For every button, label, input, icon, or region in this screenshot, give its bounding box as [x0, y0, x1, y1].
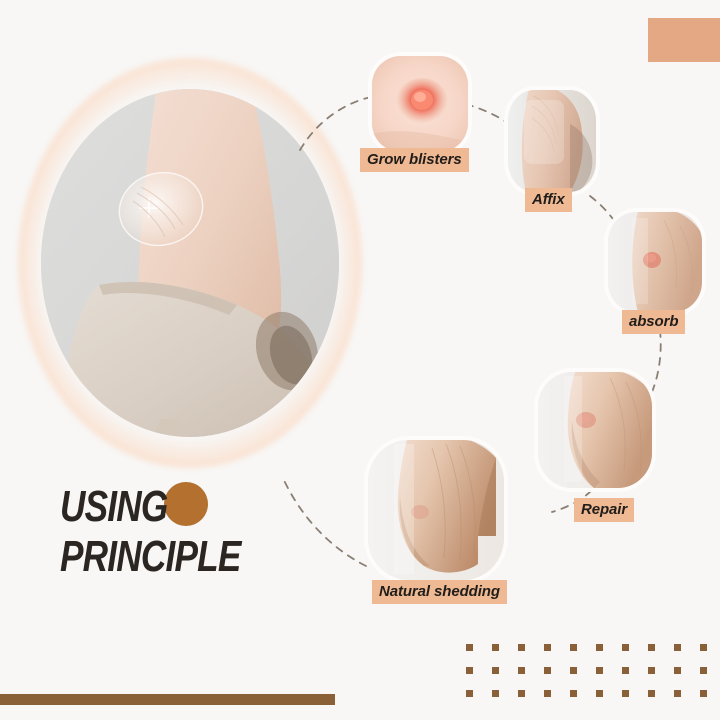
page-title-line-2: PRINCIPLE	[60, 536, 324, 578]
flow-step-3: absorb	[608, 212, 702, 312]
dot-grid-cell	[570, 667, 577, 674]
step-4-thumbnail	[538, 372, 652, 488]
dot-grid-cell	[544, 644, 551, 651]
dot-grid-cell	[596, 644, 603, 651]
dot-grid-cell	[466, 690, 473, 697]
dot-grid-cell	[596, 690, 603, 697]
dot-grid-cell	[518, 667, 525, 674]
page-title-line-1: USING	[60, 486, 324, 528]
step-3-thumbnail	[608, 212, 702, 312]
dot-grid-cell	[544, 690, 551, 697]
dot-grid-cell	[492, 667, 499, 674]
step-1-label: Grow blisters	[360, 148, 469, 172]
dot-grid-cell	[648, 644, 655, 651]
corner-accent-swatch	[648, 18, 720, 62]
dot-grid-cell	[674, 644, 681, 651]
dot-grid-cell	[596, 667, 603, 674]
dot-grid-cell	[622, 644, 629, 651]
hero-photo	[41, 89, 339, 437]
dot-grid-cell	[492, 690, 499, 697]
flow-step-1: Grow blisters	[372, 56, 468, 152]
dot-grid-cell	[700, 690, 707, 697]
dot-grid-cell	[622, 667, 629, 674]
step-2-label: Affix	[525, 188, 572, 212]
dot-grid-cell	[700, 667, 707, 674]
bottom-rule-bar	[0, 694, 335, 705]
dot-grid-cell	[570, 644, 577, 651]
flow-step-4: Repair	[538, 372, 652, 488]
hero-image-block	[18, 58, 362, 468]
step-2-thumbnail	[508, 90, 596, 192]
step-1-thumbnail	[372, 56, 468, 152]
dot-grid-cell	[648, 667, 655, 674]
dot-grid-cell	[648, 690, 655, 697]
infographic-canvas: Grow blisters	[0, 0, 720, 720]
step-3-label: absorb	[622, 310, 685, 334]
dot-grid-cell	[518, 644, 525, 651]
dot-grid-cell	[492, 644, 499, 651]
dot-grid-cell	[622, 690, 629, 697]
dot-grid-cell	[674, 690, 681, 697]
step-5-label: Natural shedding	[372, 580, 507, 604]
dot-grid-cell	[466, 644, 473, 651]
flow-step-2: Affix	[508, 90, 596, 192]
dot-grid-cell	[700, 644, 707, 651]
dot-grid-cell	[466, 667, 473, 674]
page-title: USING PRINCIPLE	[60, 486, 390, 578]
dot-grid-decoration	[466, 644, 720, 713]
dot-grid-cell	[674, 667, 681, 674]
dot-grid-cell	[570, 690, 577, 697]
step-4-label: Repair	[574, 498, 634, 522]
dot-grid-cell	[544, 667, 551, 674]
dot-grid-cell	[518, 690, 525, 697]
